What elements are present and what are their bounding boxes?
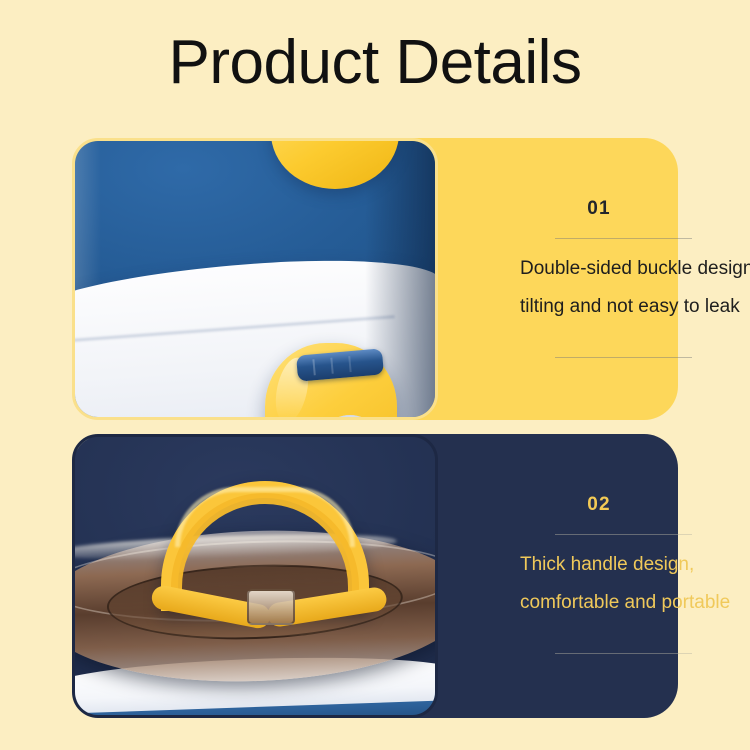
photo-inner-01 xyxy=(75,141,435,417)
feature-01-divider-bottom xyxy=(555,357,692,358)
feature-02-description: Thick handle design, comfortable and por… xyxy=(520,546,750,622)
feature-02-text-column: 02 Thick handle design, comfortable and … xyxy=(448,434,678,718)
feature-01-number: 01 xyxy=(520,198,678,220)
feature-01-divider-top xyxy=(555,238,692,239)
product-photo-buckle xyxy=(72,138,438,420)
feature-02-number: 02 xyxy=(520,494,678,516)
photo-inner-02 xyxy=(75,437,435,715)
feature-01-text-column: 01 Double-sided buckle design, tilting a… xyxy=(448,138,678,420)
product-photo-handle xyxy=(72,434,438,718)
feature-card-01: 01 Double-sided buckle design, tilting a… xyxy=(72,138,678,420)
feature-02-divider-top xyxy=(555,534,692,535)
page-title: Product Details xyxy=(0,26,750,100)
handle-center-clip xyxy=(247,589,295,625)
feature-02-divider-bottom xyxy=(555,653,692,654)
ring-hole xyxy=(315,415,385,417)
feature-card-02: 02 Thick handle design, comfortable and … xyxy=(72,434,678,718)
feature-01-description: Double-sided buckle design, tilting and … xyxy=(520,250,750,326)
handle-gloss xyxy=(175,487,355,547)
